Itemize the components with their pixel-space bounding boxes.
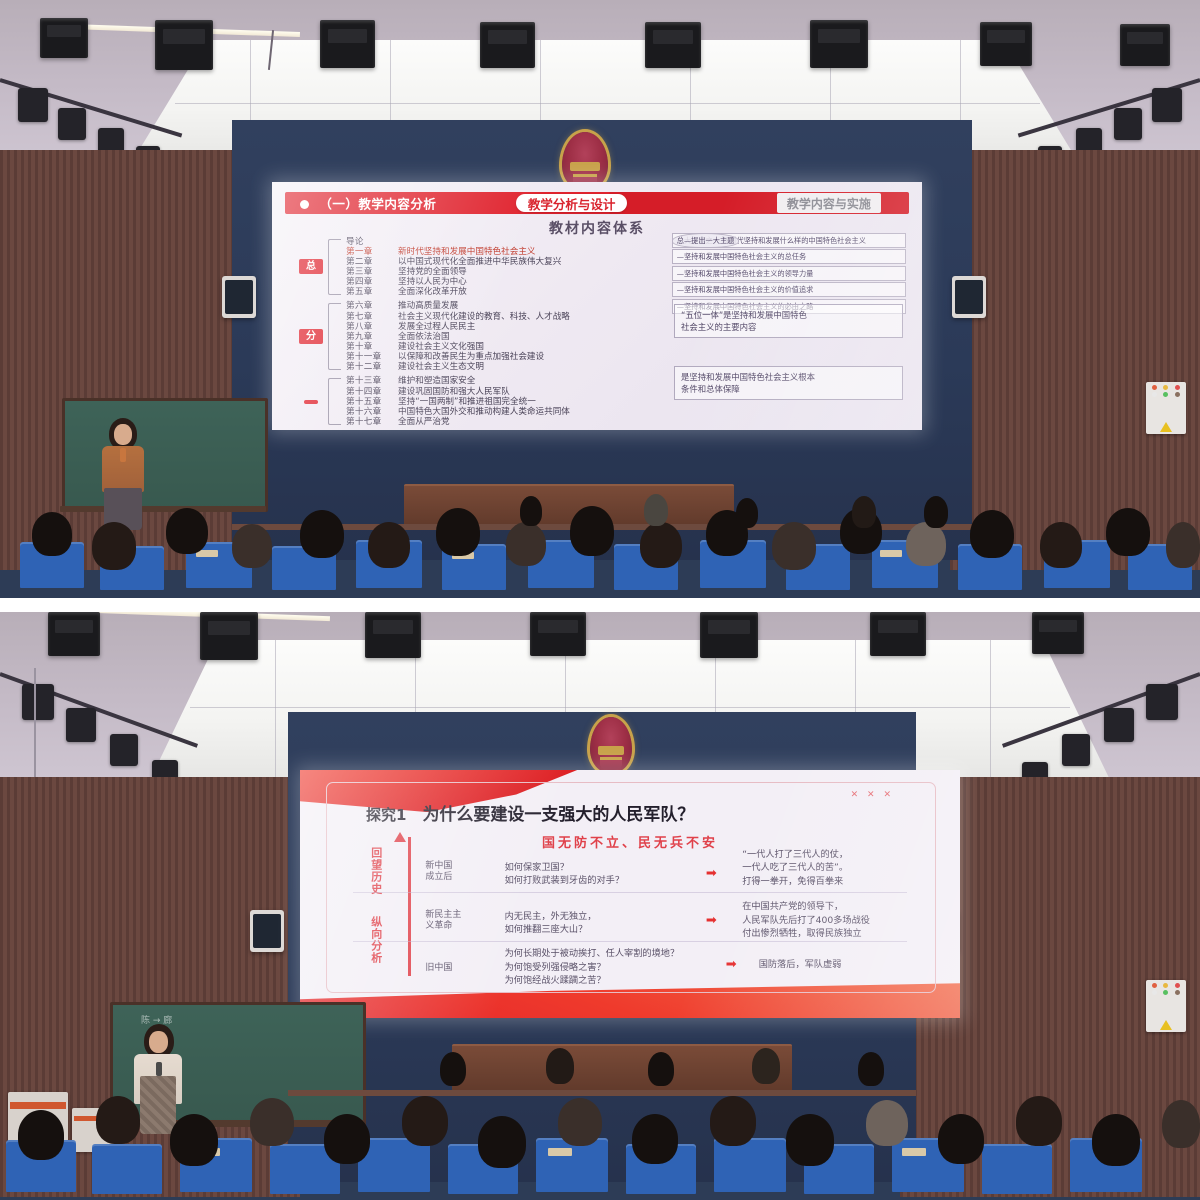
wall-control-panel[interactable] (1146, 980, 1186, 1032)
era-answer: “一代人打了三代人的仗， 一代人吃了三代人的苦”。 打得一拳开，免得百拳来 (742, 848, 848, 888)
wall-speaker-left (250, 910, 284, 952)
attendee-head (520, 496, 542, 526)
hanging-speaker (980, 22, 1032, 66)
audience-bottom (0, 1070, 1200, 1200)
chapter-row: 第十章建设社会主义文化强国 (346, 342, 636, 352)
hanging-speaker (700, 612, 758, 658)
chapter-row: 第十七章全面从严治党 (346, 417, 636, 427)
audience-top (0, 488, 1200, 598)
era-questions: 内无民主，外无独立， 如何推翻三座大山？ (505, 910, 597, 937)
photo-panel-top: （一）教学内容分析 教学分析与设计 教学内容与实施 教材内容体系 总 (0, 0, 1200, 598)
chapter-row: 第一章新时代坚持和发展中国特色社会主义 (346, 247, 636, 257)
slide1-section-title: （一）教学内容分析 (319, 194, 436, 213)
stage-spotlight (58, 108, 86, 140)
hanging-speaker (200, 612, 258, 660)
era-questions: 为何长期处于被动挨打、任人宰割的境地？ 为何饱受列强侵略之害？ 为何饱经战火蹂躏… (505, 947, 680, 987)
wall-control-panel[interactable] (1146, 382, 1186, 434)
hanging-speaker (48, 612, 100, 656)
chapter-row: 第十二章建设社会主义生态文明 (346, 362, 636, 372)
hanging-speaker (530, 612, 586, 656)
ceiling-grid-line (190, 707, 1070, 708)
hanging-speaker (1120, 24, 1170, 66)
slide1-header-bar: （一）教学内容分析 教学分析与设计 教学内容与实施 (285, 192, 909, 214)
attendee-head (736, 498, 758, 528)
stage-spotlight (1114, 108, 1142, 140)
hanging-speaker (480, 22, 535, 68)
chapter-group: 总 导论 第一章新时代坚持和发展中国特色社会主义 第二章以中国式现代化全面推进中… (298, 237, 636, 298)
ceiling-grid-line (175, 103, 1040, 104)
chapter-row: 导论 (346, 237, 636, 247)
group-badge-label: 分 (299, 329, 323, 344)
chapter-row: 第十四章建设巩固国防和强大人民军队 (346, 387, 636, 397)
slide2-tag: 探究1 (366, 804, 406, 825)
hanging-speaker (870, 612, 926, 656)
arrow-right-icon: ➡ (706, 867, 717, 880)
arrow-right-icon: ➡ (726, 958, 737, 971)
chapter-row: 第五章全面深化改革开放 (346, 287, 636, 297)
collage-divider (0, 598, 1200, 612)
attendee-head (858, 1052, 884, 1086)
group-brace (328, 239, 341, 296)
ceiling-grid-line (275, 640, 276, 780)
ceiling-grid-line (990, 640, 991, 780)
hanging-speaker (1032, 612, 1084, 654)
birds-decoration-icon: ✕ ✕ ✕ (851, 790, 894, 800)
chapter-row: 第十六章中国特色大国外交和推动构建人类命运共同体 (346, 407, 636, 417)
slide1-right-tab-label: 教学内容与实施 (787, 195, 871, 212)
chapter-row: 第二章以中国式现代化全面推进中华民族伟大复兴 (346, 257, 636, 267)
stage-spotlight (1152, 88, 1182, 122)
chapter-row: 第六章推动高质量发展 (346, 301, 636, 311)
stage-spotlight (1062, 734, 1090, 766)
callout-fundamental: 是坚持和发展中国特色社会主义根本 条件和总体保障 (674, 366, 903, 400)
era-label: 新民主主 义革命 (425, 910, 461, 933)
chapter-row: 第八章发展全过程人民民主 (346, 322, 636, 332)
stage-spotlight (110, 734, 138, 766)
projection-screen-bottom: ✕ ✕ ✕ 探究1 为什么要建设一支强大的人民军队？ 国无防不立、民无兵不安 回… (300, 770, 960, 1018)
timeline-axis (408, 837, 411, 976)
hanging-speaker (645, 22, 701, 68)
slide2-title-row: 探究1 为什么要建设一支强大的人民军队？ (366, 800, 694, 825)
attendee-head (752, 1048, 780, 1084)
slide-content-2: ✕ ✕ ✕ 探究1 为什么要建设一支强大的人民军队？ 国无防不立、民无兵不安 回… (300, 770, 960, 1018)
warning-triangle-icon (1160, 422, 1172, 432)
callout-item: 总—提出一大主题 (672, 233, 740, 248)
stage-spotlight (22, 684, 54, 720)
slide-content-1: （一）教学内容分析 教学分析与设计 教学内容与实施 教材内容体系 总 (272, 182, 922, 430)
chapter-row: 第十三章维护和塑造国家安全 (346, 376, 636, 386)
slide1-center-pill-label: 教学分析与设计 (528, 194, 616, 213)
attendee-head (546, 1048, 574, 1084)
group-badge: 总 (298, 237, 324, 298)
chapter-row: 第七章社会主义现代化建设的教育、科技、人才战略 (346, 312, 636, 322)
attendee-head (644, 494, 668, 526)
group-brace (328, 303, 341, 370)
chapter-row: 第十一章以保障和改善民生为重点加强社会建设 (346, 352, 636, 362)
bullet-dot-icon (300, 200, 309, 209)
slide1-chapter-list: 总 导论 第一章新时代坚持和发展中国特色社会主义 第二章以中国式现代化全面推进中… (298, 237, 636, 430)
hanging-speaker (810, 20, 868, 68)
wall-speaker-left (222, 276, 256, 318)
arrow-right-icon: ➡ (706, 914, 717, 927)
callout-item: —坚持和发展中国特色社会主义的价值追求 (672, 282, 906, 297)
china-national-emblem-icon (590, 717, 632, 773)
era-answer: 在中国共产党的领导下， 人民军队先后打了400多场战役 付出惨烈牺牲，取得民族独… (742, 900, 870, 940)
hanging-speaker (155, 20, 213, 70)
group-brace (328, 378, 341, 425)
stage-spotlight (1104, 708, 1134, 742)
photo-collage: （一）教学内容分析 教学分析与设计 教学内容与实施 教材内容体系 总 (0, 0, 1200, 1200)
chapter-row: 第九章全面依法治国 (346, 332, 636, 342)
group-badge: 分 (298, 301, 324, 372)
up-arrow-icon (394, 832, 406, 842)
group-badge-label: 总 (299, 259, 323, 274)
era-label: 旧中国 (425, 963, 452, 974)
warning-triangle-icon (1160, 1020, 1172, 1030)
chapter-group: 分 第六章推动高质量发展 第七章社会主义现代化建设的教育、科技、人才战略 第八章… (298, 301, 636, 372)
microphone-icon (120, 448, 126, 462)
era-label: 新中国 成立后 (425, 861, 452, 884)
attendee-head (648, 1052, 674, 1086)
callout-five-in-one: “五位一体”是坚持和发展中国特色 社会主义的主要内容 (674, 304, 903, 338)
stage-spotlight (18, 88, 48, 122)
chapter-row: 第三章坚持党的全面领导 (346, 267, 636, 277)
hanging-speaker (40, 18, 88, 58)
photo-panel-bottom: ✕ ✕ ✕ 探究1 为什么要建设一支强大的人民军队？ 国无防不立、民无兵不安 回… (0, 612, 1200, 1200)
callout-item: —坚持和发展中国特色社会主义的总任务 (672, 249, 906, 264)
attendee-head (852, 496, 876, 528)
chapter-group: 第十三章维护和塑造国家安全 第十四章建设巩固国防和强大人民军队 第十五章坚持“一… (298, 376, 636, 427)
group-badge-label (304, 400, 318, 404)
slide2-question: 为什么要建设一支强大的人民军队？ (422, 800, 694, 825)
stage-spotlight (66, 708, 96, 742)
slide1-right-tab: 教学内容与实施 (777, 193, 881, 214)
hanging-speaker (320, 20, 375, 68)
chapter-row: 第十五章坚持“一国两制”和推进祖国完全统一 (346, 397, 636, 407)
group-badge (298, 376, 324, 427)
era-answer: 国防落后，军队虚弱 (759, 958, 842, 971)
wall-speaker-right (952, 276, 986, 318)
chapter-row: 第四章坚持以人民为中心 (346, 277, 636, 287)
slide1-center-pill: 教学分析与设计 (516, 194, 628, 213)
hanging-speaker (365, 612, 421, 658)
era-questions: 如何保家卫国？ 如何打败武装到牙齿的对手？ (505, 861, 624, 888)
projection-screen-top: （一）教学内容分析 教学分析与设计 教学内容与实施 教材内容体系 总 (272, 182, 922, 430)
stage-spotlight (1146, 684, 1178, 720)
axis-label-top: 回望历史 (369, 847, 382, 895)
callout-item: —坚持和发展中国特色社会主义的领导力量 (672, 266, 906, 281)
attendee-head (924, 496, 948, 528)
attendee-head (440, 1052, 466, 1086)
